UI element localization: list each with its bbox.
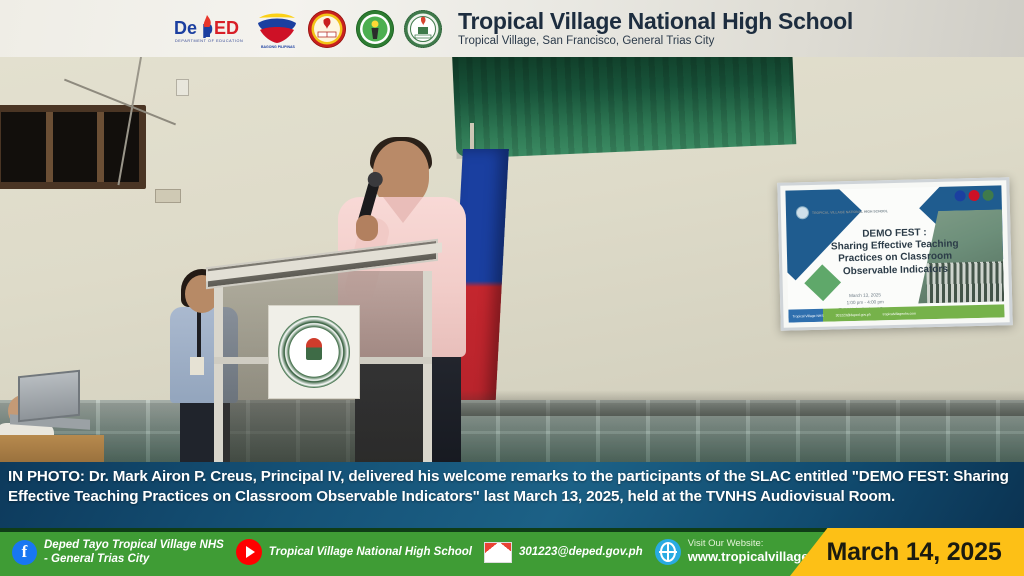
svg-text:DEPARTMENT OF EDUCATION: DEPARTMENT OF EDUCATION xyxy=(175,39,243,43)
page-subtitle: Tropical Village, San Francisco, General… xyxy=(458,35,853,49)
header-text-block: Tropical Village National High School Tr… xyxy=(458,9,853,49)
photo-staff-lanyard xyxy=(197,309,201,357)
footer-email[interactable]: 301223@deped.gov.ph xyxy=(472,542,643,563)
slide-title: DEMO FEST : Sharing Effective Teaching P… xyxy=(786,225,1003,279)
slide-footer-item-0: Tropical Village NHS xyxy=(792,313,823,318)
caption-text: IN PHOTO: Dr. Mark Airon P. Creus, Princ… xyxy=(8,467,1016,507)
facebook-icon[interactable]: f xyxy=(12,540,37,565)
svg-text:BAGONG PILIPINAS: BAGONG PILIPINAS xyxy=(261,45,296,49)
footer-bar: f Deped Tayo Tropical Village NHS - Gene… xyxy=(0,528,1024,576)
slide-bagong-pilipinas-icon xyxy=(968,190,979,201)
date-badge-text: March 14, 2025 xyxy=(812,538,1001,567)
poster-header: De p ED DEPARTMENT OF EDUCATION BAGONG P… xyxy=(0,0,1024,57)
podium-school-seal-icon xyxy=(278,316,350,388)
email-label: 301223@deped.gov.ph xyxy=(519,545,643,559)
slide-school-mark: TROPICAL VILLAGE NATIONAL HIGH SCHOOL xyxy=(796,204,888,219)
school-seal-icon xyxy=(403,9,443,49)
event-photo: TROPICAL VILLAGE NATIONAL HIGH SCHOOL DE… xyxy=(0,57,1024,462)
gmail-icon[interactable] xyxy=(484,542,512,563)
city-seal-icon xyxy=(355,9,395,49)
slide-school-name: TROPICAL VILLAGE NATIONAL HIGH SCHOOL xyxy=(812,209,888,215)
header-logo-group: De p ED DEPARTMENT OF EDUCATION BAGONG P… xyxy=(171,9,443,49)
photo-wall-shadow xyxy=(430,390,1024,416)
caption-bar: IN PHOTO: Dr. Mark Airon P. Creus, Princ… xyxy=(0,462,1024,528)
footer-youtube[interactable]: Tropical Village National High School xyxy=(224,539,472,565)
slide-inner: TROPICAL VILLAGE NATIONAL HIGH SCHOOL DE… xyxy=(785,185,1004,322)
announcement-poster: De p ED DEPARTMENT OF EDUCATION BAGONG P… xyxy=(0,0,1024,576)
facebook-label-line-2: - General Trias City xyxy=(44,552,224,566)
slide-footer-item-1: 301223@deped.gov.ph xyxy=(836,312,871,317)
photo-staff-id-card xyxy=(190,357,204,375)
slide-footer-item-2: tropicalvillagenhs.com xyxy=(883,311,916,316)
date-badge: March 14, 2025 xyxy=(790,528,1024,576)
slide-seal-icon xyxy=(796,206,809,219)
slide-school-seal-icon xyxy=(982,190,993,201)
photo-stage-curtain xyxy=(452,57,796,159)
footer-facebook[interactable]: f Deped Tayo Tropical Village NHS - Gene… xyxy=(0,538,224,566)
youtube-label: Tropical Village National High School xyxy=(269,545,472,559)
projected-slide: TROPICAL VILLAGE NATIONAL HIGH SCHOOL DE… xyxy=(777,177,1013,331)
page-title: Tropical Village National High School xyxy=(458,9,853,33)
photo-laptop-screen xyxy=(18,370,80,423)
youtube-icon[interactable] xyxy=(236,539,262,565)
deped-logo: De p ED DEPARTMENT OF EDUCATION xyxy=(171,10,247,48)
svg-text:De: De xyxy=(174,18,197,38)
division-seal-icon xyxy=(307,9,347,49)
photo-speaker-hand xyxy=(356,215,378,241)
photo-table xyxy=(0,435,104,462)
photo-light-switch xyxy=(176,79,189,96)
slide-logo-row xyxy=(954,190,993,202)
svg-text:ED: ED xyxy=(214,18,239,38)
bagong-pilipinas-logo: BAGONG PILIPINAS xyxy=(255,9,299,49)
globe-ring xyxy=(660,542,676,562)
photo-podium-plate xyxy=(268,305,360,399)
globe-icon[interactable] xyxy=(655,539,681,565)
slide-deped-logo-icon xyxy=(954,190,965,201)
photo-wall-outlet xyxy=(155,189,181,203)
facebook-label-line-1: Deped Tayo Tropical Village NHS xyxy=(44,538,224,552)
